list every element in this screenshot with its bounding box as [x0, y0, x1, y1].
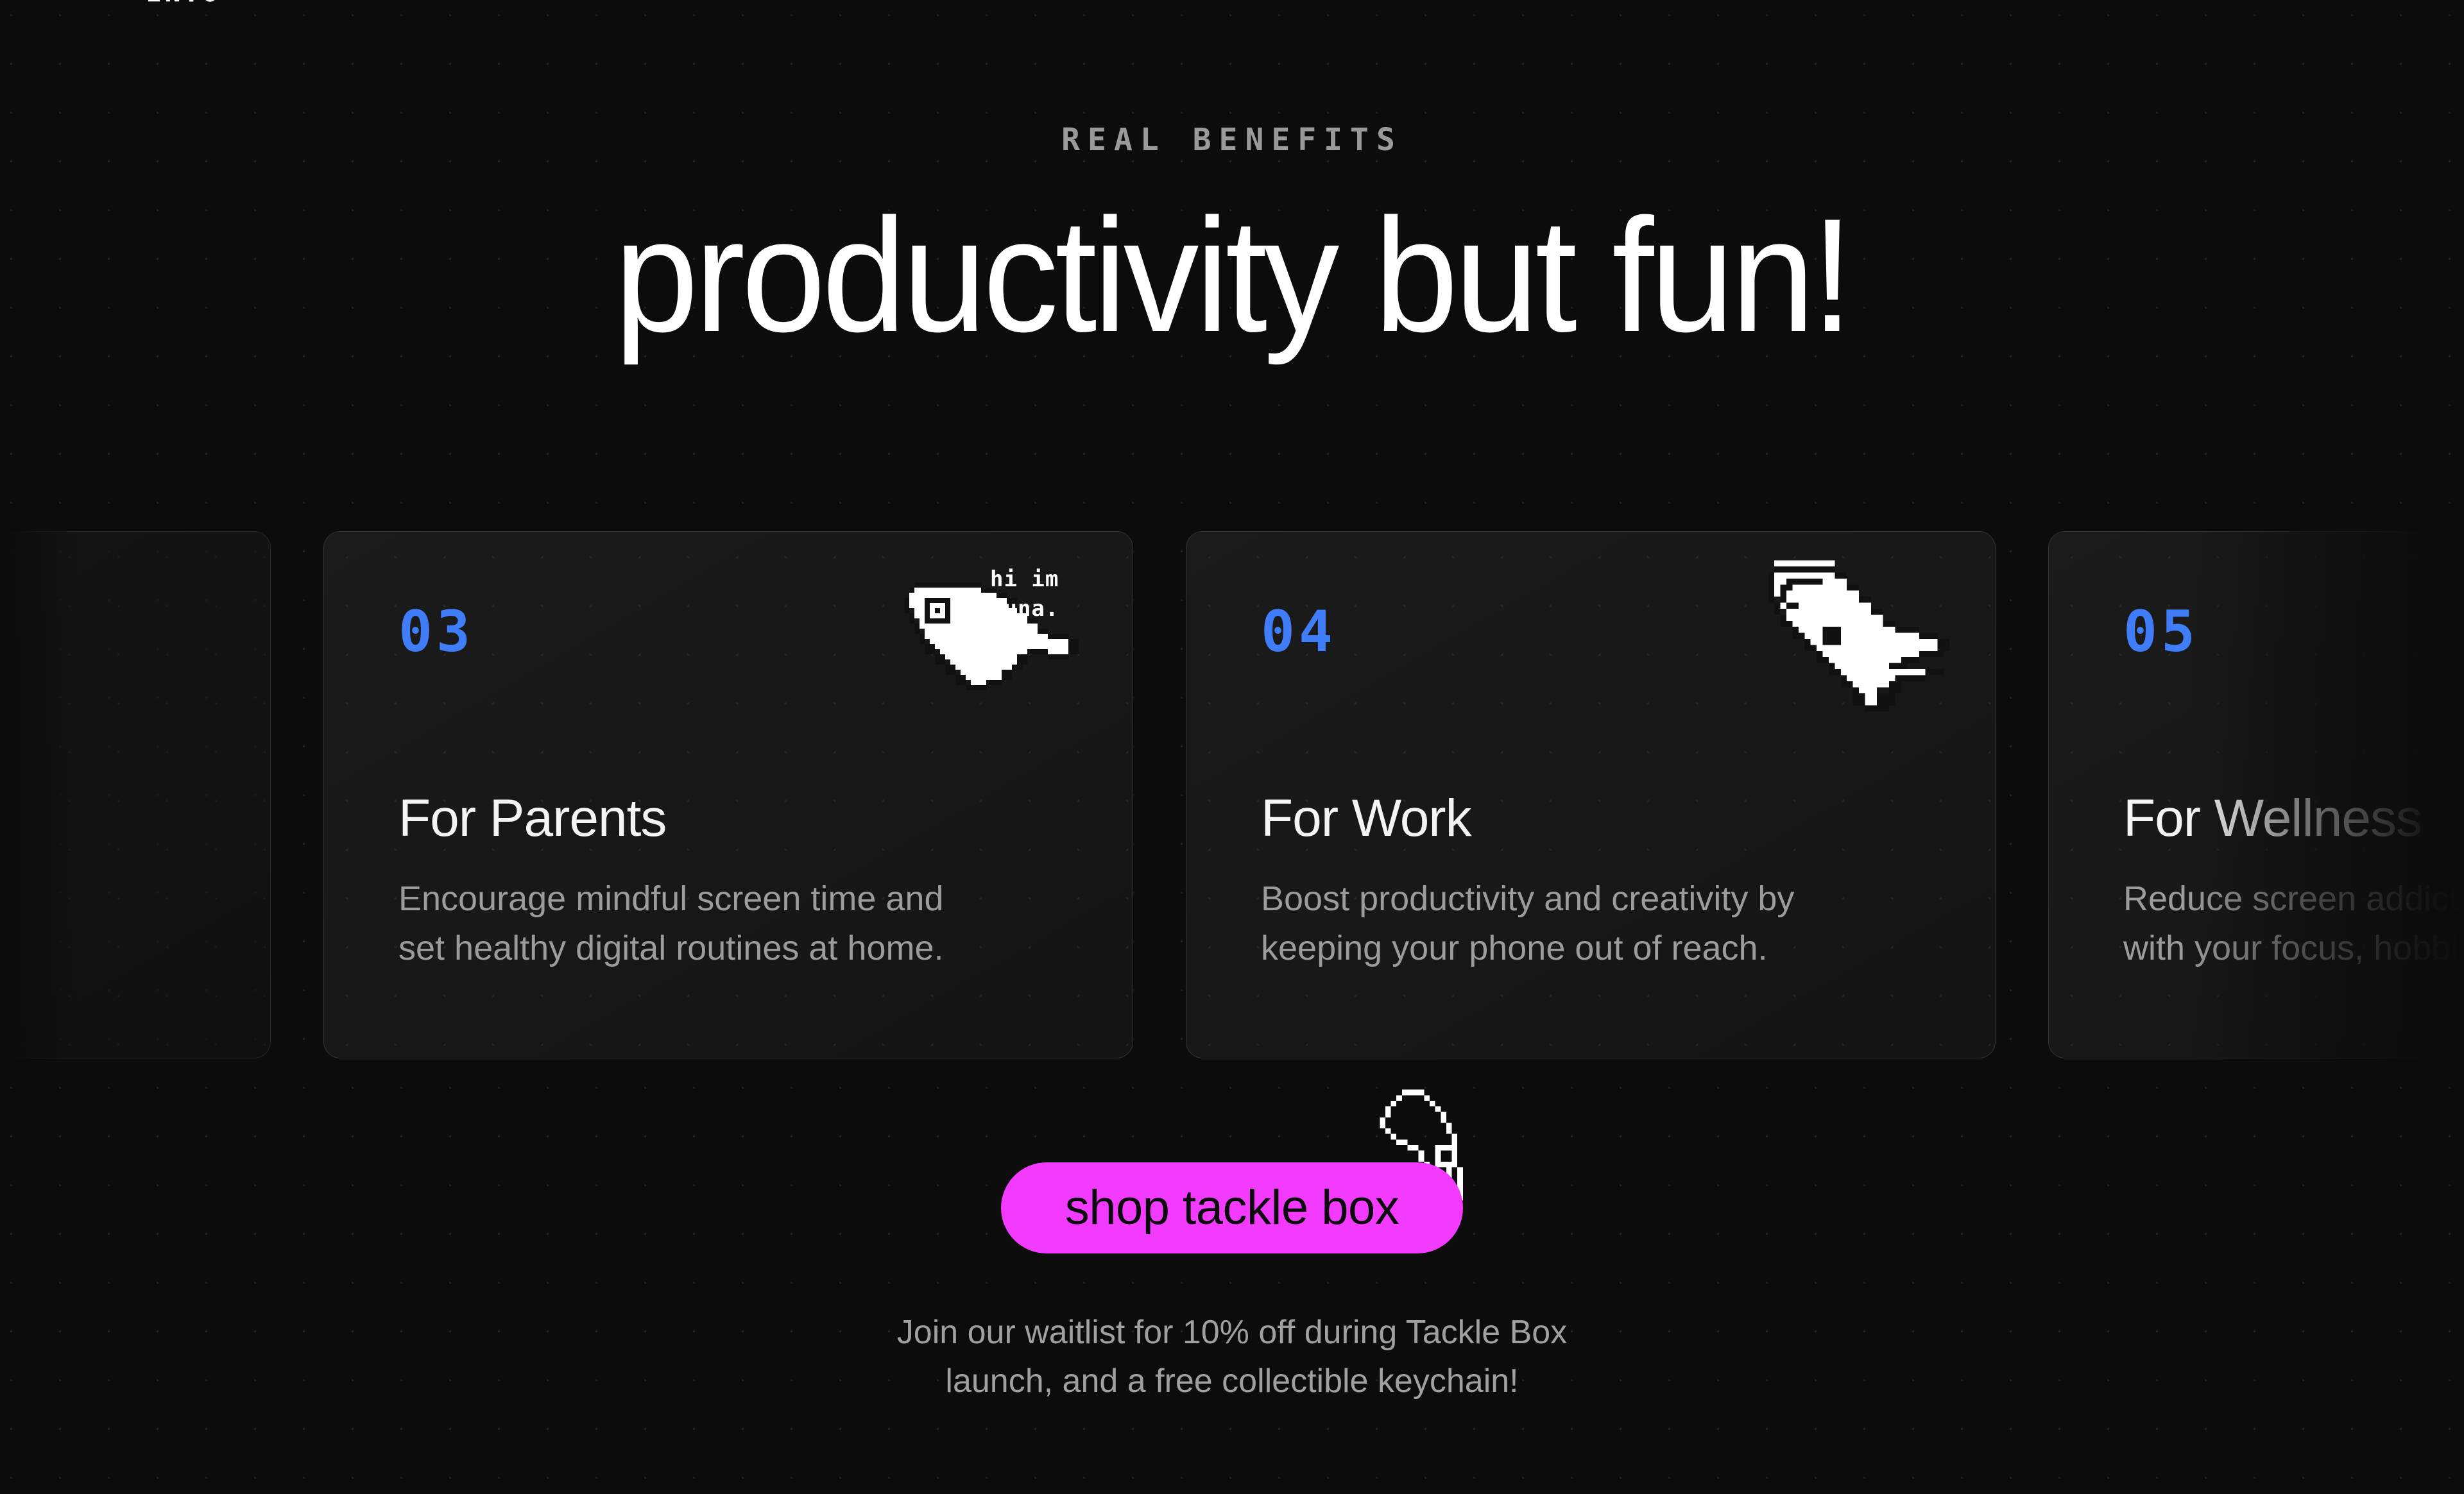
cta-caption: Join our waitlist for 10% off during Tac… — [0, 1309, 2464, 1406]
benefit-card[interactable]: 03 — [323, 531, 1133, 1058]
cut-off-pixel-heading: INTO — [0, 0, 2464, 8]
card-number: 04 — [1261, 598, 1337, 665]
benefits-section: INTO REAL BENEFITS productivity but fun! — [0, 0, 2464, 1494]
page-title: productivity but fun! — [80, 192, 2384, 359]
card-title: For Work — [1261, 788, 1471, 849]
section-eyebrow: REAL BENEFITS — [0, 122, 2464, 158]
benefit-card[interactable]: 05 For Wellness Reduce screen addiction,… — [2048, 531, 2464, 1058]
cta-caption-line-1: Join our waitlist for 10% off during Tac… — [0, 1309, 2464, 1357]
card-title: For Wellness — [2123, 788, 2422, 849]
card-description: Encourage mindful screen time and set he… — [398, 874, 989, 972]
carousel-track[interactable]: 03 — [38, 531, 2464, 1058]
benefit-card[interactable] — [0, 531, 271, 1058]
card-number: 05 — [2123, 598, 2199, 665]
card-description: Reduce screen addiction, reconnect with … — [2123, 874, 2464, 972]
cta-zone: shop tackle box — [0, 1091, 2464, 1334]
card-title: For Parents — [398, 788, 666, 849]
cta-caption-line-2: launch, and a free collectible keychain! — [0, 1357, 2464, 1406]
card-description: Boost productivity and creativity by kee… — [1261, 874, 1851, 972]
benefit-card[interactable]: 04 — [1186, 531, 1996, 1058]
shop-tackle-box-button[interactable]: shop tackle box — [1001, 1162, 1463, 1253]
card-number: 03 — [398, 598, 474, 665]
benefits-carousel[interactable]: 03 — [0, 531, 2464, 1058]
squid-pixel-icon — [1756, 559, 1962, 719]
card-icon-caption: hi im tuna. — [990, 565, 1099, 624]
